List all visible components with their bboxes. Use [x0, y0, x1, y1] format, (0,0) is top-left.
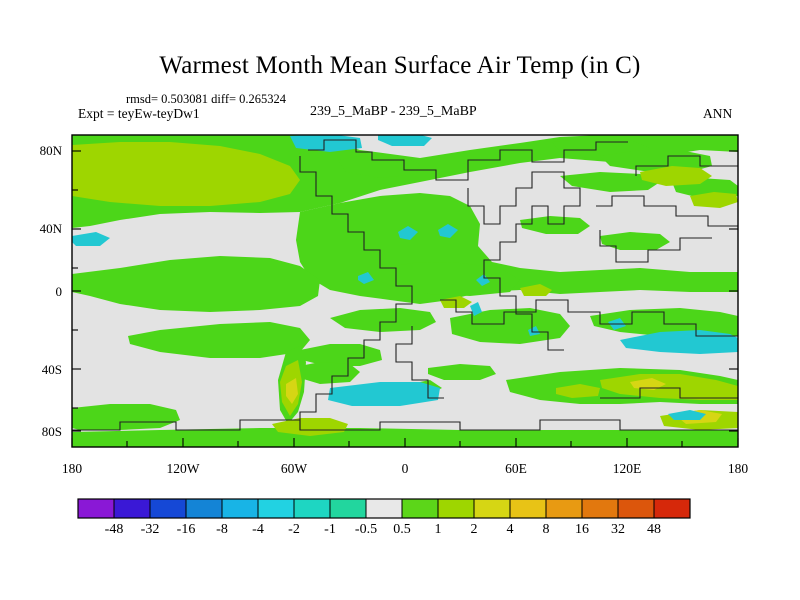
ytick-label-40s: 40S: [16, 362, 62, 378]
colorbar-cell: [186, 499, 223, 518]
colorbar-cell: [366, 499, 403, 518]
colorbar-cell: [618, 499, 655, 518]
colorbar-tick-label: 32: [598, 522, 638, 538]
xtick-label-120e: 120E: [592, 461, 662, 477]
colorbar: [78, 499, 691, 518]
xtick-label-0: 0: [370, 461, 440, 477]
ytick-label-0: 0: [16, 284, 62, 300]
map-plot: [0, 0, 800, 600]
colorbar-cell: [510, 499, 547, 518]
colorbar-tick-label: 48: [634, 522, 674, 538]
colorbar-cell: [150, 499, 187, 518]
colorbar-cell: [258, 499, 295, 518]
xtick-label-60w: 60W: [259, 461, 329, 477]
colorbar-cell: [654, 499, 691, 518]
colorbar-tick-label: -4: [238, 522, 278, 538]
colorbar-tick-label: 1: [418, 522, 458, 538]
xtick-label-60e: 60E: [481, 461, 551, 477]
ytick-label-40n: 40N: [16, 221, 62, 237]
colorbar-cell: [330, 499, 367, 518]
xtick-label-180w: 180: [37, 461, 107, 477]
colorbar-cell: [582, 499, 619, 518]
colorbar-tick-label: -1: [310, 522, 350, 538]
colorbar-tick-label: -16: [166, 522, 206, 538]
colorbar-tick-label: 4: [490, 522, 530, 538]
colorbar-cell: [474, 499, 511, 518]
ytick-label-80s: 80S: [16, 424, 62, 440]
colorbar-cell: [114, 499, 151, 518]
xtick-label-120w: 120W: [148, 461, 218, 477]
colorbar-cell: [294, 499, 331, 518]
colorbar-cell: [438, 499, 475, 518]
colorbar-tick-label: 16: [562, 522, 602, 538]
colorbar-tick-label: -48: [94, 522, 134, 538]
figure-canvas: Warmest Month Mean Surface Air Temp (in …: [0, 0, 800, 600]
colorbar-tick-label: -32: [130, 522, 170, 538]
colorbar-cell: [222, 499, 259, 518]
colorbar-tick-label: -8: [202, 522, 242, 538]
colorbar-tick-label: -0.5: [346, 522, 386, 538]
colorbar-cell: [78, 499, 115, 518]
ytick-label-80n: 80N: [16, 143, 62, 159]
colorbar-tick-label: 8: [526, 522, 566, 538]
colorbar-tick-label: 0.5: [382, 522, 422, 538]
xtick-label-180e: 180: [703, 461, 773, 477]
colorbar-cell: [402, 499, 439, 518]
colorbar-tick-label: -2: [274, 522, 314, 538]
colorbar-cell: [546, 499, 583, 518]
colorbar-tick-label: 2: [454, 522, 494, 538]
